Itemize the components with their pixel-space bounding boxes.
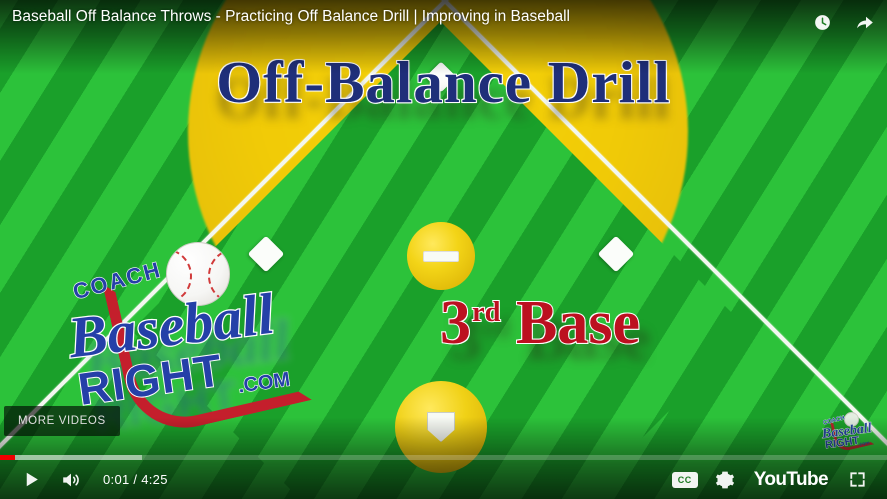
player-controls-bar: 0:01 / 4:25 CC YouTube <box>0 460 887 499</box>
share-arrow-icon <box>854 12 875 33</box>
share-button[interactable] <box>849 7 879 37</box>
home-plate <box>427 412 455 442</box>
top-actions-group <box>807 7 879 37</box>
watch-later-button[interactable] <box>807 7 837 37</box>
controls-left-group: 0:01 / 4:25 <box>0 460 174 499</box>
youtube-video-player[interactable]: Off-Balance Drill Off-Balance Drill 3rd … <box>0 0 887 499</box>
more-videos-button[interactable]: MORE VIDEOS <box>4 406 120 436</box>
video-stage[interactable]: Off-Balance Drill Off-Balance Drill 3rd … <box>0 0 887 499</box>
closed-captions-icon: CC <box>672 472 698 488</box>
subtitles-button[interactable]: CC <box>665 460 705 499</box>
watermark-com-text: .com <box>858 440 870 448</box>
fullscreen-button[interactable] <box>837 460 877 499</box>
gear-icon <box>715 470 735 490</box>
settings-button[interactable] <box>705 460 745 499</box>
speaker-icon <box>60 469 82 491</box>
youtube-watermark-button[interactable]: YouTube <box>745 469 837 491</box>
volume-button[interactable] <box>51 460 91 499</box>
pitching-rubber <box>423 251 459 262</box>
pitchers-mound <box>407 222 475 290</box>
play-button[interactable] <box>11 460 51 499</box>
video-title[interactable]: Baseball Off Balance Throws - Practicing… <box>12 8 570 26</box>
time-display: 0:01 / 4:25 <box>91 472 174 487</box>
fullscreen-corners-icon <box>848 470 867 489</box>
channel-watermark[interactable]: COACH Baseball RIGHT .com <box>821 411 875 451</box>
clock-icon <box>813 13 832 32</box>
play-triangle-icon <box>22 470 41 489</box>
controls-right-group: CC YouTube <box>665 460 887 499</box>
